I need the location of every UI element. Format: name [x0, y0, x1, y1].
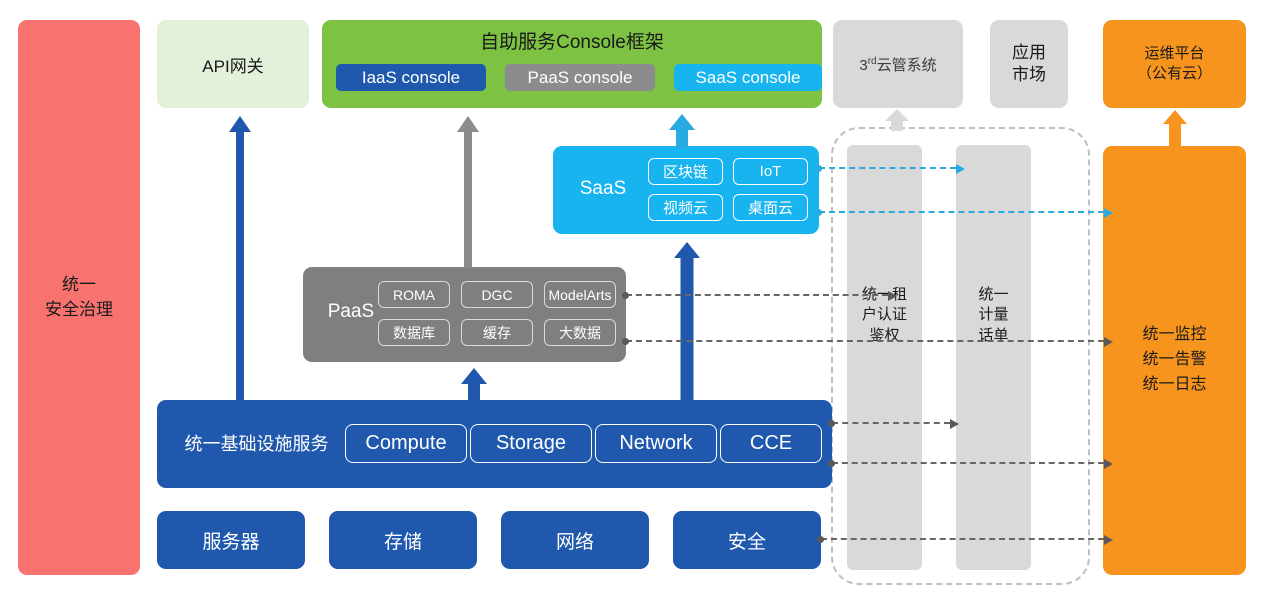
arrow-saas-to-console — [669, 114, 695, 148]
hardware-box-network[interactable]: 网络 — [501, 511, 649, 569]
unified-metering-column — [956, 145, 1031, 570]
arrow-zone-to-ops-platform — [1162, 110, 1188, 148]
ops-platform-top-line2: （公有云） — [1137, 64, 1212, 84]
dashed-saas-to-auth — [819, 167, 956, 169]
iaas-chip-compute[interactable]: Compute — [345, 424, 467, 463]
metering-line3: 话单 — [956, 326, 1031, 346]
ops-platform-column: 统一监控 统一告警 统一日志 — [1103, 146, 1246, 575]
arrow-iaas-to-saas — [674, 242, 700, 402]
api-gateway-label: API网关 — [202, 52, 263, 77]
arrow-paas-to-console — [457, 116, 479, 268]
third-party-cloud-mgmt-box: 3rd云管系统 — [833, 20, 963, 108]
unified-tenant-auth-column — [847, 145, 922, 570]
auth-line3: 鉴权 — [847, 326, 922, 346]
hardware-box-security[interactable]: 安全 — [673, 511, 821, 569]
iaas-infrastructure-bar: 统一基础设施服务 Compute Storage Network CCE — [157, 400, 832, 488]
architecture-diagram: 统一 安全治理 API网关 自助服务Console框架 IaaS console… — [0, 0, 1265, 605]
iaas-name-label: 统一基础设施服务 — [169, 430, 344, 456]
paas-chip-modelarts[interactable]: ModelArts — [544, 281, 616, 308]
auth-line2: 户认证 — [847, 305, 922, 325]
ops-col-line1: 统一监控 — [1142, 323, 1206, 348]
console-framework-box: 自助服务Console框架 IaaS console PaaS console … — [322, 20, 822, 108]
security-governance-panel: 统一 安全治理 — [18, 20, 140, 575]
paas-box: PaaS ROMA DGC ModelArts 数据库 缓存 大数据 — [303, 267, 626, 362]
saas-chip-video-cloud[interactable]: 视频云 — [648, 194, 723, 221]
iaas-chip-cce[interactable]: CCE — [720, 424, 822, 463]
dashed-iaas-to-auth — [832, 422, 950, 424]
hardware-box-server[interactable]: 服务器 — [157, 511, 305, 569]
arrow-iaas-to-paas — [461, 368, 487, 402]
app-market-box: 应用 市场 — [990, 20, 1068, 108]
console-chip-iaas[interactable]: IaaS console — [336, 64, 486, 91]
paas-chip-bigdata[interactable]: 大数据 — [544, 319, 616, 346]
dashed-paas-to-auth — [626, 294, 888, 296]
hardware-box-storage[interactable]: 存储 — [329, 511, 477, 569]
ops-col-line3: 统一日志 — [1142, 373, 1206, 398]
dashed-paas-to-ops — [626, 340, 1104, 342]
iaas-chip-storage[interactable]: Storage — [470, 424, 592, 463]
api-gateway-box: API网关 — [157, 20, 309, 108]
iaas-chip-network[interactable]: Network — [595, 424, 717, 463]
third-party-superscript: rd — [868, 56, 877, 67]
console-chip-paas[interactable]: PaaS console — [505, 64, 655, 91]
dashed-iaas-to-ops — [832, 462, 1104, 464]
app-market-line1: 应用 — [1012, 42, 1046, 64]
ops-platform-top-box: 运维平台 （公有云） — [1103, 20, 1246, 108]
dashed-saas-to-ops — [819, 211, 1104, 213]
saas-name-label: SaaS — [563, 178, 643, 200]
console-framework-title: 自助服务Console框架 — [322, 27, 822, 54]
security-governance-line1: 统一 — [45, 273, 113, 298]
arrow-zone-to-third-party — [884, 109, 910, 131]
app-market-line2: 市场 — [1012, 64, 1046, 86]
paas-chip-roma[interactable]: ROMA — [378, 281, 450, 308]
metering-line1: 统一 — [956, 285, 1031, 305]
saas-box: SaaS 区块链 IoT 视频云 桌面云 — [553, 146, 819, 234]
paas-chip-cache[interactable]: 缓存 — [461, 319, 533, 346]
dashed-hardware-to-ops — [821, 538, 1104, 540]
paas-chip-database[interactable]: 数据库 — [378, 319, 450, 346]
ops-platform-top-line1: 运维平台 — [1137, 44, 1212, 64]
saas-chip-desktop-cloud[interactable]: 桌面云 — [733, 194, 808, 221]
paas-chip-dgc[interactable]: DGC — [461, 281, 533, 308]
saas-chip-blockchain[interactable]: 区块链 — [648, 158, 723, 185]
arrow-iaas-to-api-gateway — [229, 116, 251, 401]
ops-col-line2: 统一告警 — [1142, 348, 1206, 373]
saas-chip-iot[interactable]: IoT — [733, 158, 808, 185]
third-party-label: 3rd云管系统 — [859, 54, 936, 75]
metering-line2: 计量 — [956, 305, 1031, 325]
security-governance-line2: 安全治理 — [45, 298, 113, 323]
unified-metering-label: 统一 计量 话单 — [956, 285, 1031, 346]
console-chip-saas[interactable]: SaaS console — [674, 64, 822, 91]
